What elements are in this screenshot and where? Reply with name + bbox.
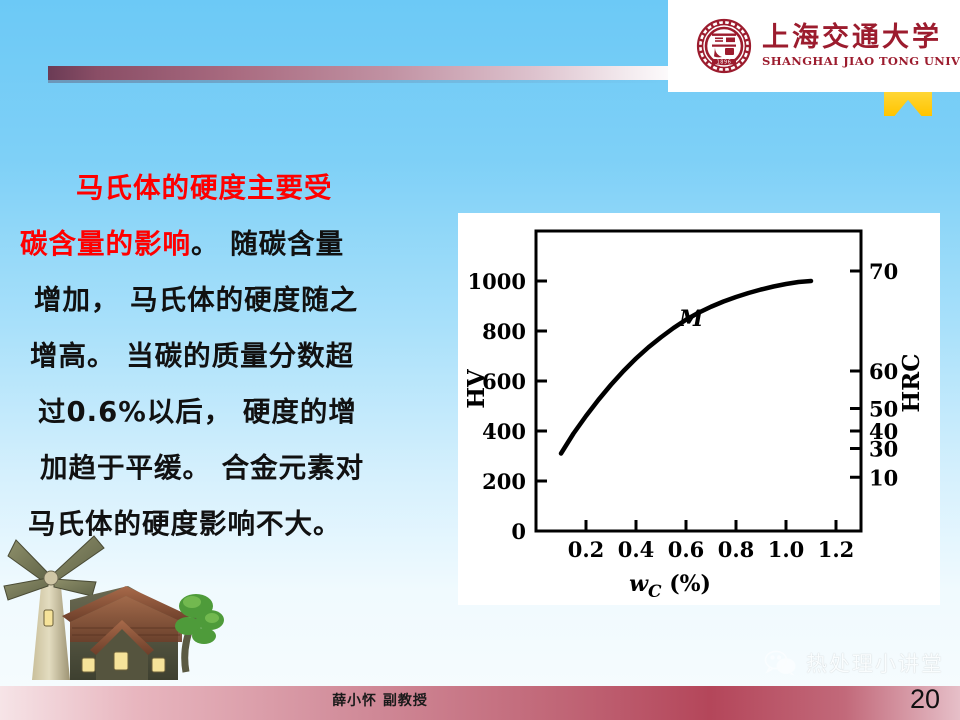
chart-y2tick-label: 70	[869, 259, 898, 284]
text-line-1-red: 马氏体的硬度主要受	[76, 172, 333, 204]
chart-ytick-label: 0	[511, 519, 526, 544]
slide-canvas: 1896 上海交通大学 SHANGHAI JIAO TONG UNIVERSIT…	[0, 0, 960, 720]
chart-xtick-label: 0.6	[668, 537, 705, 562]
logo-chinese-name: 上海交通大学	[762, 24, 960, 51]
wechat-watermark: 热处理小讲堂	[764, 648, 944, 678]
chart-ylabel: HV	[463, 368, 490, 409]
watermark-text: 热处理小讲堂	[806, 648, 944, 678]
sjtu-seal-icon: 1896	[696, 18, 752, 74]
hardness-chart: 02004006008001000 103040506070 0.20.40.6…	[458, 213, 940, 605]
chart-ytick-label: 800	[482, 319, 526, 344]
chart-xtick-label: 0.4	[618, 537, 655, 562]
text-line-3: 增加， 马氏体的硬度随之	[34, 284, 358, 316]
chart-xtick-label: 1.2	[818, 537, 855, 562]
header-accent-bar-shadow	[48, 80, 670, 83]
svg-text:wC (%): wC (%)	[629, 571, 711, 602]
page-number: 20	[910, 684, 940, 715]
chart-xtick-label: 1.0	[768, 537, 805, 562]
body-text-block: 马氏体的硬度主要受 碳含量的影响。 随碳含量 增加， 马氏体的硬度随之 增高。 …	[20, 160, 460, 552]
chart-y2tick-label: 40	[869, 419, 898, 444]
seal-year-text: 1896	[717, 60, 732, 66]
footer-presenter: 薛小怀 副教授	[0, 690, 760, 710]
chart-y2label: HRC	[898, 353, 925, 412]
logo-english-name: SHANGHAI JIAO TONG UNIVERSITY	[762, 56, 960, 68]
chart-ytick-label: 400	[482, 419, 526, 444]
text-line-6: 加趋于平缓。 合金元素对	[40, 452, 364, 484]
yellow-accent-shape	[884, 90, 932, 116]
text-line-2-red: 碳含量的影响	[20, 228, 191, 260]
text-line-2-black: 。 随碳含量	[191, 228, 344, 260]
text-line-4: 增高。 当碳的质量分数超	[30, 340, 354, 372]
chart-xlabel: wC (%)	[629, 571, 711, 602]
windmill-cottage-illustration	[0, 530, 230, 690]
chart-xtick-label: 0.8	[718, 537, 755, 562]
wechat-icon	[764, 649, 798, 677]
chart-ytick-label: 1000	[468, 269, 526, 294]
hardness-chart-panel: 02004006008001000 103040506070 0.20.40.6…	[458, 213, 940, 605]
chart-y2tick-label: 10	[869, 465, 898, 490]
chart-annotation-m: M	[678, 306, 704, 332]
chart-y2tick-label: 50	[869, 397, 898, 422]
text-line-5: 过0.6%以后， 硬度的增	[38, 396, 357, 428]
text-line-7: 马氏体的硬度影响不大。	[28, 508, 342, 540]
chart-ytick-label: 200	[482, 469, 526, 494]
chart-xtick-label: 0.2	[568, 537, 605, 562]
header-accent-bar	[48, 66, 670, 80]
university-logo-box: 1896 上海交通大学 SHANGHAI JIAO TONG UNIVERSIT…	[668, 0, 960, 92]
chart-y2tick-label: 60	[869, 359, 898, 384]
